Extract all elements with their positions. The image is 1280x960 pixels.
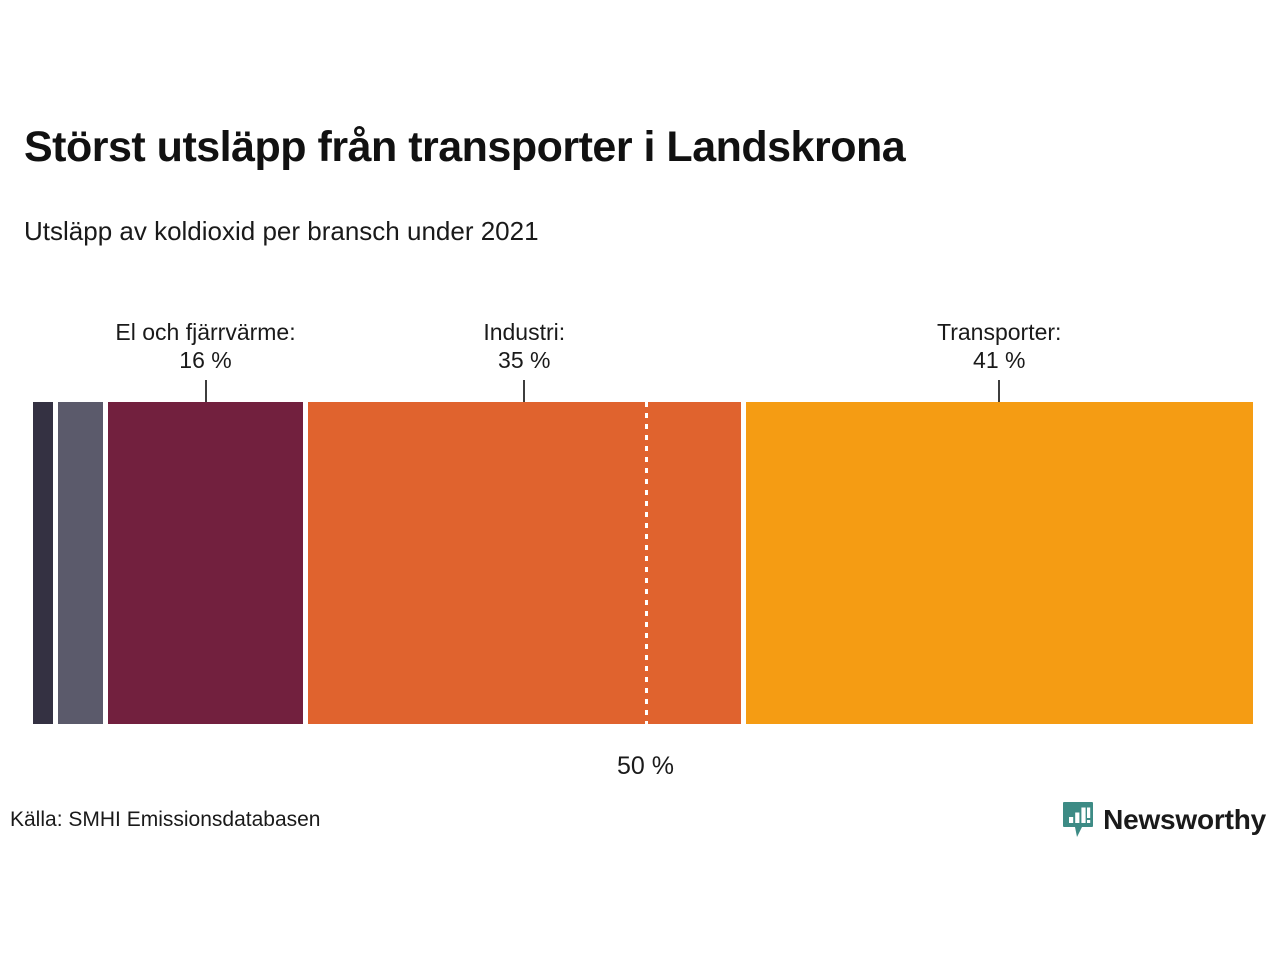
bar-segment	[58, 402, 103, 724]
brand-name: Newsworthy	[1103, 806, 1266, 834]
annotation-tick	[523, 380, 525, 402]
reference-line-label: 50 %	[617, 752, 674, 781]
bar-segment	[33, 402, 53, 724]
annotation-tick	[998, 380, 1000, 402]
chart-title: Störst utsläpp från transporter i Landsk…	[24, 124, 1204, 171]
reference-line-50-percent	[645, 402, 648, 724]
brand-logo: Newsworthy	[1062, 798, 1266, 842]
segment-annotation: Transporter:41 %	[779, 318, 1219, 374]
bar-segment	[308, 402, 741, 724]
segment-annotation-value: 35 %	[304, 346, 744, 374]
source-note: Källa: SMHI Emissionsdatabasen	[10, 808, 320, 832]
segment-annotation-name: Transporter:	[779, 318, 1219, 346]
chart-subtitle: Utsläpp av koldioxid per bransch under 2…	[24, 216, 1204, 247]
newsworthy-bar-chart-pin-icon	[1062, 801, 1094, 839]
chart-figure: Störst utsläpp från transporter i Landsk…	[0, 0, 1280, 960]
bar-segment	[108, 402, 303, 724]
segment-annotation-name: Industri:	[304, 318, 744, 346]
segment-annotation-value: 41 %	[779, 346, 1219, 374]
bar-segment	[746, 402, 1254, 724]
segment-annotation: Industri:35 %	[304, 318, 744, 374]
annotation-tick	[205, 380, 207, 402]
